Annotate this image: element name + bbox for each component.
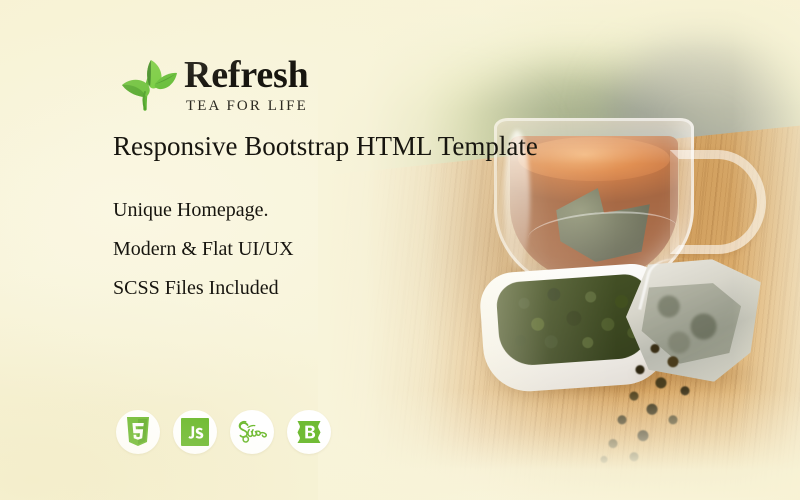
bootstrap-b-icon: [294, 419, 324, 445]
brand-lockup: Refresh TEA FOR LIFE: [112, 56, 309, 115]
feature-list: Unique Homepage. Modern & Flat UI/UX SCS…: [113, 200, 294, 317]
list-item: Unique Homepage.: [113, 200, 294, 220]
brand-tagline: TEA FOR LIFE: [184, 98, 309, 115]
brand-name: Refresh: [184, 56, 309, 94]
sass-script-icon: [235, 420, 269, 444]
bootstrap-badge: [287, 410, 331, 454]
sass-badge: [230, 410, 274, 454]
promo-content: Refresh TEA FOR LIFE Responsive Bootstra…: [112, 0, 532, 500]
promo-banner: Refresh TEA FOR LIFE Responsive Bootstra…: [0, 0, 800, 500]
tea-leaf-icon: [112, 57, 178, 113]
page-title: Responsive Bootstrap HTML Template: [113, 131, 538, 162]
brand-text: Refresh TEA FOR LIFE: [184, 56, 309, 115]
list-item: SCSS Files Included: [113, 278, 294, 298]
html5-badge: [116, 410, 160, 454]
tech-badge-row: [116, 410, 331, 454]
list-item: Modern & Flat UI/UX: [113, 239, 294, 259]
js-square-icon: [181, 418, 209, 446]
html5-shield-icon: [125, 417, 151, 447]
javascript-badge: [173, 410, 217, 454]
